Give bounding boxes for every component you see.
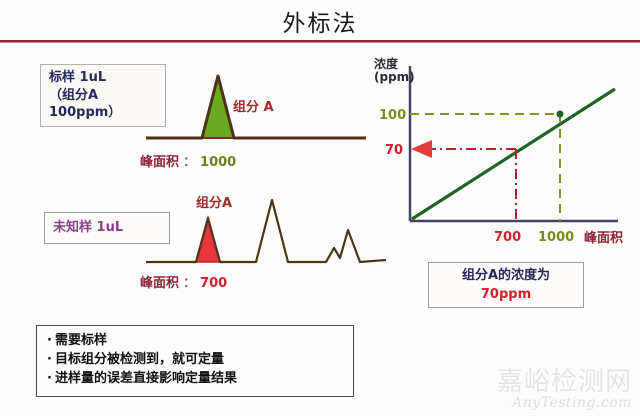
unknown-sample-line1: 未知样 1uL: [53, 219, 161, 237]
calibration-line: [412, 89, 615, 219]
standard-area-label: 峰面积: [140, 155, 179, 170]
standard-sample-line2: （组分A 100ppm）: [49, 87, 157, 122]
chart-x-tick-1000: 1000: [538, 230, 574, 245]
standard-sample-line1: 标样 1uL: [49, 69, 157, 87]
standard-peak-area: 峰面积：1000: [140, 151, 236, 170]
standard-area-separator: ：: [183, 155, 196, 170]
unknown-peak-label: 组分A: [196, 192, 232, 211]
unknown-target-peak-shape: [196, 218, 220, 262]
result-box: 组分A的浓度为 70ppm: [428, 262, 584, 308]
standard-peak-label: 组分 A: [233, 96, 274, 115]
note-item: 进样量的误差直接影响定量结果: [47, 370, 343, 389]
result-line1: 组分A的浓度为: [437, 267, 575, 285]
page-title: 外标法: [0, 4, 640, 38]
standard-area-value: 1000: [200, 155, 236, 170]
chart-y-axis-title: 浓度 (ppm): [374, 58, 415, 84]
chart-x-axis-title: 峰面积: [584, 232, 623, 246]
unknown-chromatogram: [146, 196, 386, 270]
chart-y-axis-title-line2: (ppm): [374, 71, 415, 84]
calibration-curve-chart: [370, 56, 632, 252]
unknown-area-value: 700: [200, 276, 227, 291]
result-value: 70ppm: [437, 286, 575, 304]
notes-box: 需要标样 目标组分被检测到，就可定量 进样量的误差直接影响定量结果: [36, 325, 354, 397]
title-divider-thin: [0, 42, 640, 43]
unknown-trace: [146, 200, 386, 262]
watermark-cn: 嘉峪检测网: [497, 369, 632, 395]
unknown-area-label: 峰面积: [140, 276, 179, 291]
unknown-chromatogram-svg: [146, 196, 386, 270]
standard-point-marker: [557, 111, 564, 118]
unknown-area-separator: ：: [183, 276, 196, 291]
watermark-en: AnyTesting.com: [497, 395, 632, 412]
note-item: 目标组分被检测到，就可定量: [47, 351, 343, 370]
standard-peak-shape: [202, 76, 234, 138]
notes-list: 需要标样 目标组分被检测到，就可定量 进样量的误差直接影响定量结果: [47, 332, 343, 389]
watermark: 嘉峪检测网 AnyTesting.com: [497, 369, 632, 412]
result-arrow-icon: [411, 140, 432, 158]
chart-x-tick-700: 700: [494, 230, 521, 245]
slide-canvas: 外标法 标样 1uL （组分A 100ppm） 组分 A 峰面积：1000 未知…: [0, 0, 640, 416]
chart-y-tick-70: 70: [385, 143, 403, 158]
note-item: 需要标样: [47, 332, 343, 351]
unknown-peak-area: 峰面积：700: [140, 272, 227, 291]
calibration-curve-svg: [370, 56, 632, 252]
chart-y-tick-100: 100: [379, 108, 406, 123]
